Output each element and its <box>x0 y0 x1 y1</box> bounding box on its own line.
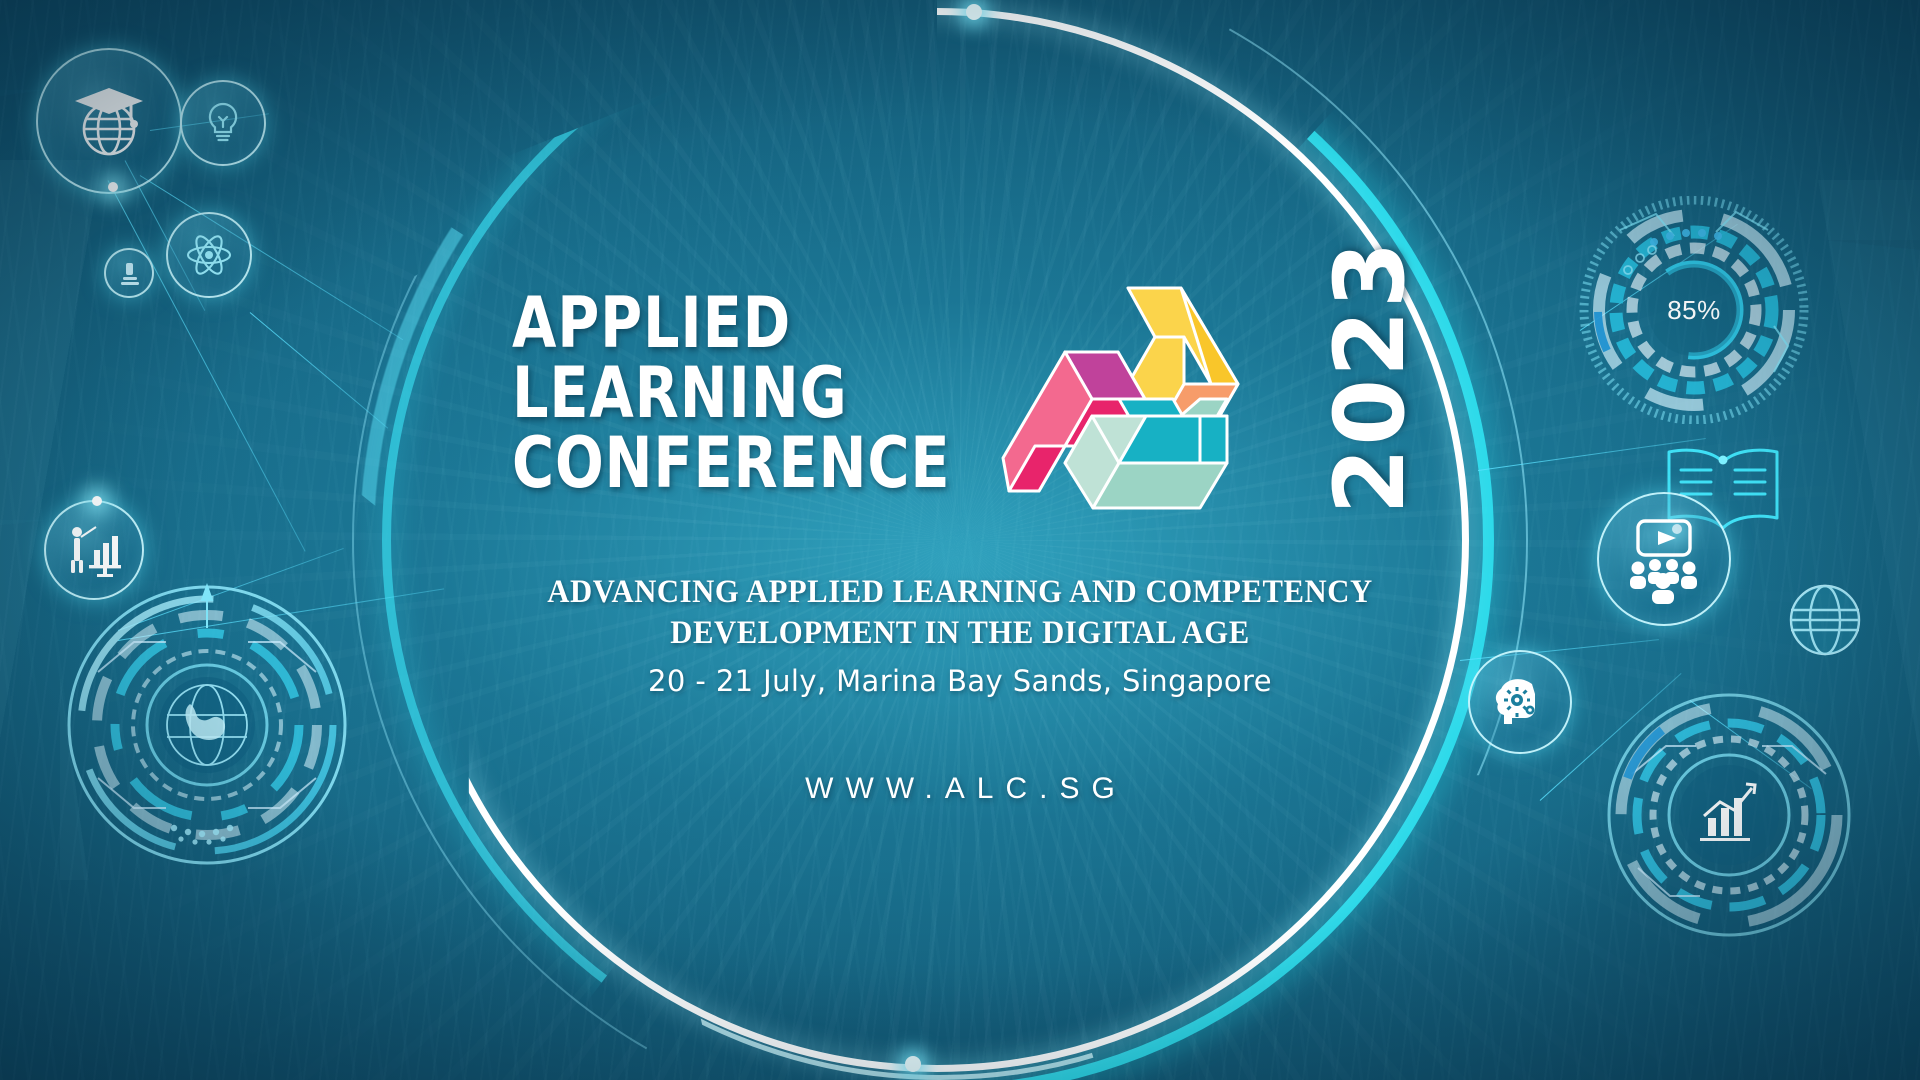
subtitle-line-2: DEVELOPMENT IN THE DIGITAL AGE <box>402 613 1518 654</box>
event-year: 2023 <box>1255 262 1485 492</box>
video-audience-icon[interactable] <box>1597 492 1731 626</box>
event-venue-date: 20 - 21 July, Marina Bay Sands, Singapor… <box>360 664 1560 698</box>
node-spark <box>108 182 118 192</box>
event-website-url[interactable]: WWW.ALC.SG <box>360 772 1560 806</box>
node-spark <box>92 496 102 506</box>
subtitle-line-1: ADVANCING APPLIED LEARNING AND COMPETENC… <box>402 572 1518 613</box>
microscope-icon[interactable] <box>104 248 154 298</box>
radar-globe-icon[interactable] <box>62 580 352 870</box>
event-title: APPLIED LEARNING CONFERENCE <box>512 288 982 498</box>
title-line-1: APPLIED <box>512 288 897 358</box>
conference-banner: APPLIED LEARNING CONFERENCE 2023 <box>0 0 1920 1080</box>
wire-globe-icon <box>1770 565 1880 675</box>
event-subtitle: ADVANCING APPLIED LEARNING AND COMPETENC… <box>402 572 1518 654</box>
gauge-dial-icon[interactable]: 85% <box>1578 196 1810 424</box>
conference-logo-icon <box>995 280 1265 515</box>
analytics-dial-icon[interactable] <box>1604 690 1854 940</box>
gauge-value-label: 85% <box>1578 196 1810 424</box>
atom-icon[interactable] <box>166 212 252 298</box>
title-line-2: LEARNING <box>512 358 897 428</box>
brain-gears-icon[interactable] <box>1468 650 1572 754</box>
graduation-cap-globe-icon[interactable] <box>36 48 182 194</box>
lightbulb-icon[interactable] <box>180 80 266 166</box>
title-line-3: CONFERENCE <box>512 428 897 498</box>
